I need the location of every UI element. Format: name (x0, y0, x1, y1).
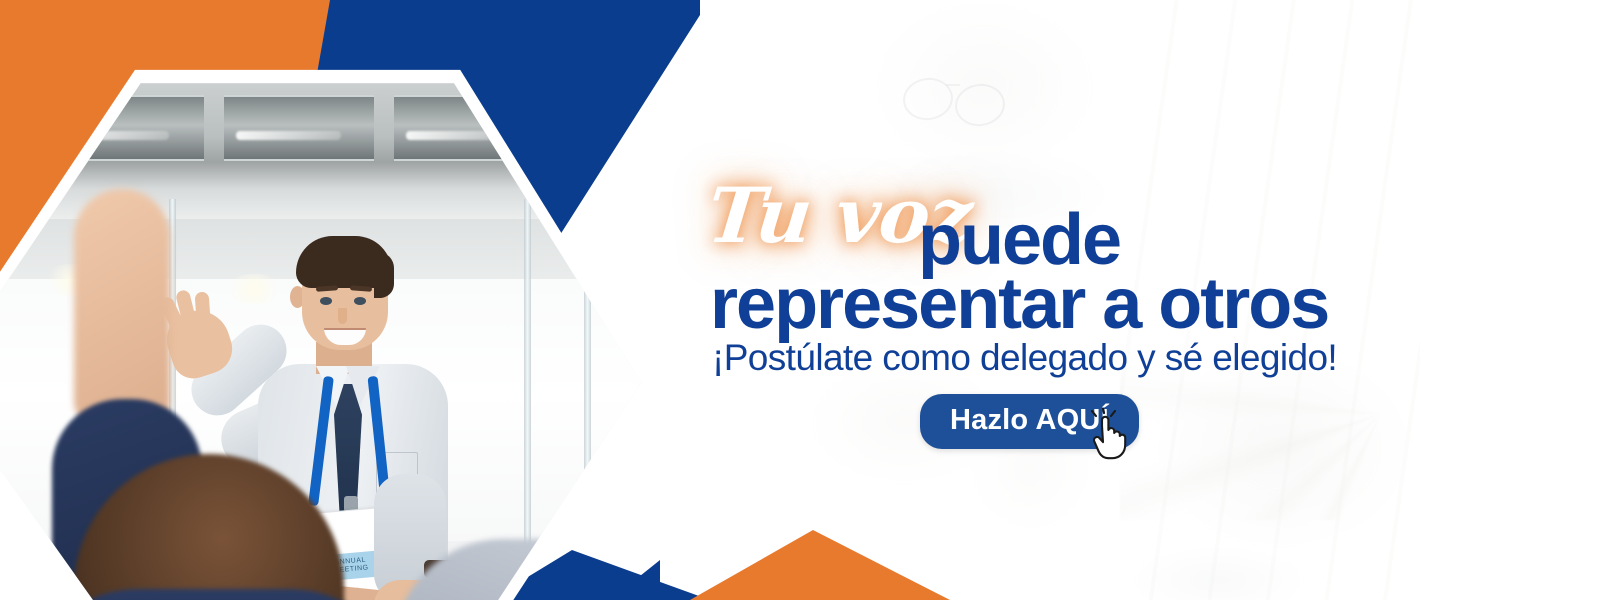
presenter-hair-side (374, 252, 394, 298)
audience-raised-hand (74, 189, 170, 424)
hand-pointer-click-icon (1090, 408, 1134, 462)
promo-banner: ANNUAL MEETING Name (0, 0, 1600, 600)
scene-glass-column-3 (584, 199, 591, 599)
presenter-nose (338, 308, 347, 324)
presenter-eye-left (320, 297, 332, 305)
presenter-finger-3 (195, 292, 212, 335)
presenter-eye-right (354, 297, 366, 305)
headline-line-2: representar a otros (710, 268, 1328, 340)
subheadline: ¡Postúlate como delegado y sé elegido! (712, 338, 1337, 378)
hexagon-photo: ANNUAL MEETING Name (0, 55, 670, 600)
scene-vent-4 (564, 95, 656, 161)
scene-vent-2 (224, 95, 374, 161)
